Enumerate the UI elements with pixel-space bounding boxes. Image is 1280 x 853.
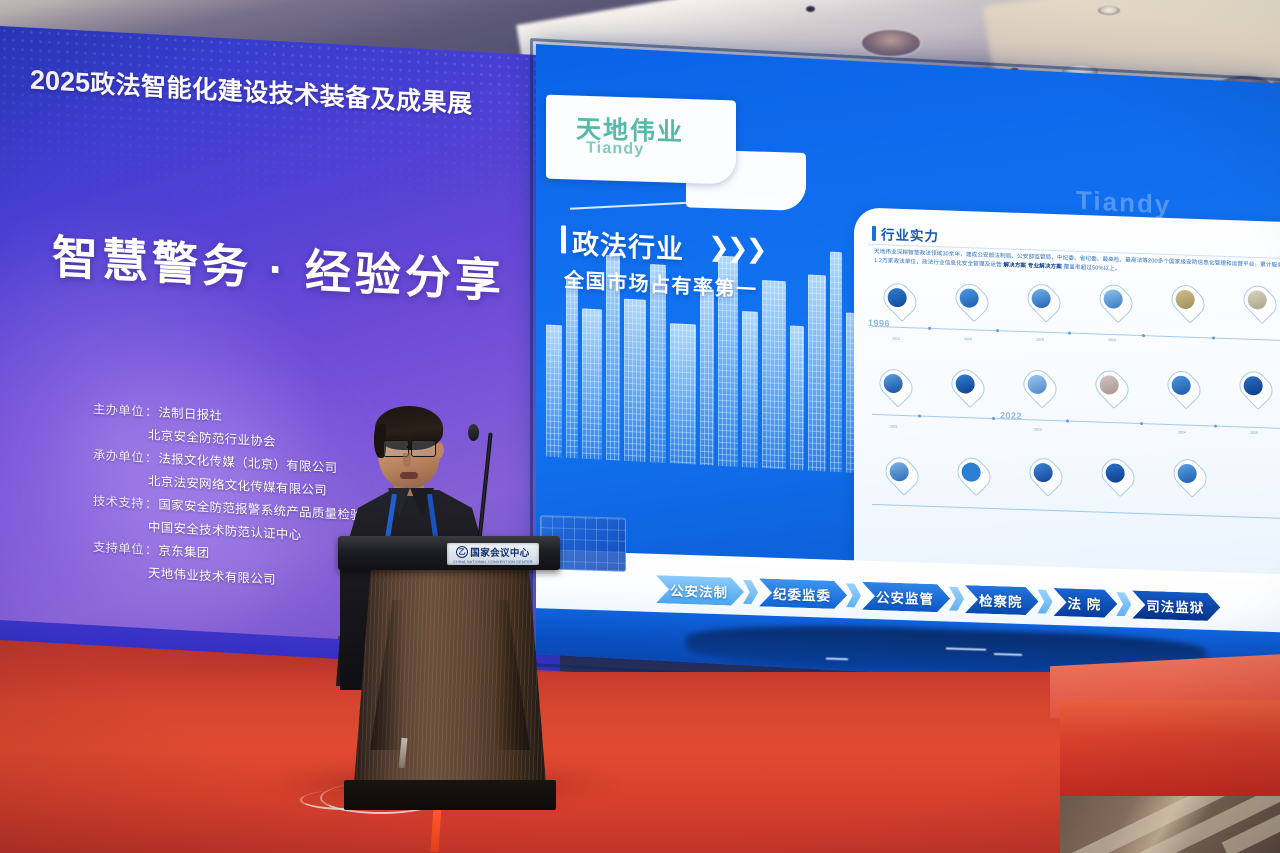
venue-sign-en: CHINA NATIONAL CONVENTION CENTER xyxy=(453,560,533,564)
event-year: 2025 xyxy=(30,65,90,98)
microphone-icon xyxy=(468,424,479,441)
event-subtitle: 智慧警务 · 经验分享 xyxy=(52,221,522,312)
chevron-separator-icon xyxy=(949,587,964,611)
nav-item-discipline-inspection[interactable]: 纪委监委 xyxy=(759,578,847,609)
timeline-tick-year: 2024 xyxy=(1162,430,1202,436)
heading-accent-bar xyxy=(561,225,566,253)
venue-sign: 乙 国家会议中心 CHINA NATIONAL CONVENTION CENTE… xyxy=(447,543,539,565)
credit-colon: ： xyxy=(144,540,158,559)
credit-value: 法制日报社 xyxy=(158,403,222,424)
event-title-text: 政法智能化建设技术装备及成果展 xyxy=(90,70,473,119)
credit-label: 承办单位 xyxy=(60,443,144,466)
tiled-floor xyxy=(1060,796,1280,853)
slide-content: 天地伟业 Tiandy Tiandy 政法行业 ❯❯❯ 全国市场占有率第一 行业… xyxy=(536,44,1280,694)
chevron-right-icon: ❯❯❯ xyxy=(708,231,764,265)
nav-item-public-security-supervision[interactable]: 公安监管 xyxy=(862,582,950,613)
timeline-year: 1996 xyxy=(868,318,890,329)
venue-sign-cn-row: 乙 国家会议中心 xyxy=(456,545,529,559)
company-timeline: 1996 2022 xyxy=(854,207,1280,590)
industry-strength-card: 行业实力 天地伟业深耕智慧政法领域30余年，建成公安部法制局、公安部监管局、中纪… xyxy=(854,207,1280,590)
chevron-separator-icon xyxy=(846,583,861,607)
credit-label: 技术支持 xyxy=(60,489,144,512)
venue-sign-cn: 国家会议中心 xyxy=(470,545,529,559)
podium-base xyxy=(344,780,556,810)
speaker-eyebrow-left xyxy=(385,436,405,439)
credit-value: 京东集团 xyxy=(158,541,209,562)
led-presentation-screen[interactable]: 天地伟业 Tiandy Tiandy 政法行业 ❯❯❯ 全国市场占有率第一 行业… xyxy=(536,44,1280,694)
stage-platform-front xyxy=(1060,700,1280,805)
timeline-tick-year: 2012 xyxy=(876,336,916,342)
conference-photo: 2025政法智能化建设技术装备及成果展 智慧警务 · 经验分享 主办单位 ： 法… xyxy=(0,0,1280,853)
speaker-eyebrow-right xyxy=(412,436,432,439)
nav-item-procuratorate[interactable]: 检察院 xyxy=(965,585,1039,615)
nav-item-public-security-legal[interactable]: 公安法制 xyxy=(656,575,744,606)
ceiling-speaker-icon xyxy=(806,6,815,12)
nav-item-judicial-prison[interactable]: 司法监狱 xyxy=(1132,590,1220,621)
credit-colon: ： xyxy=(144,402,158,421)
credit-colon: ： xyxy=(144,494,158,513)
timeline-tick-year: 2018 xyxy=(1020,337,1060,343)
timeline-year: 2022 xyxy=(1000,410,1022,421)
timeline-tick-year: 2025 xyxy=(1234,430,1274,436)
recessed-downlight-icon xyxy=(1098,6,1120,15)
slide-heading: 政法行业 xyxy=(572,222,684,267)
credit-label: 支持单位 xyxy=(60,535,144,558)
credit-colon: ： xyxy=(144,448,158,467)
nav-item-court[interactable]: 法 院 xyxy=(1054,588,1118,618)
podium-waist-shading xyxy=(370,600,530,750)
brand-name-en: Tiandy xyxy=(586,139,644,159)
timeline-tick-year: 2023 xyxy=(1018,427,1058,433)
timeline-tick-year: 2020 xyxy=(1092,337,1132,343)
speaker-mouth xyxy=(400,472,418,479)
credit-label: 主办单位 xyxy=(60,397,144,420)
speaker-nose xyxy=(403,453,411,467)
credit-value: 中国安全技术防范认证中心 xyxy=(148,517,302,543)
glasses-icon xyxy=(411,440,436,457)
credit-value: 天地伟业技术有限公司 xyxy=(148,563,276,588)
event-title: 2025政法智能化建设技术装备及成果展 xyxy=(30,61,500,122)
timeline-tick-year: 2021 xyxy=(874,424,914,430)
chevron-separator-icon xyxy=(1038,589,1053,613)
glasses-bridge xyxy=(407,446,412,448)
recessed-downlight-icon xyxy=(860,28,922,58)
credit-value: 北京安全防范行业协会 xyxy=(148,425,276,450)
venue-logo-icon: 乙 xyxy=(456,546,468,558)
chevron-separator-icon xyxy=(743,580,758,604)
timeline-tick-year: 2015 xyxy=(948,336,988,342)
heading-connector-dot xyxy=(782,196,791,205)
chevron-separator-icon xyxy=(1116,592,1131,616)
